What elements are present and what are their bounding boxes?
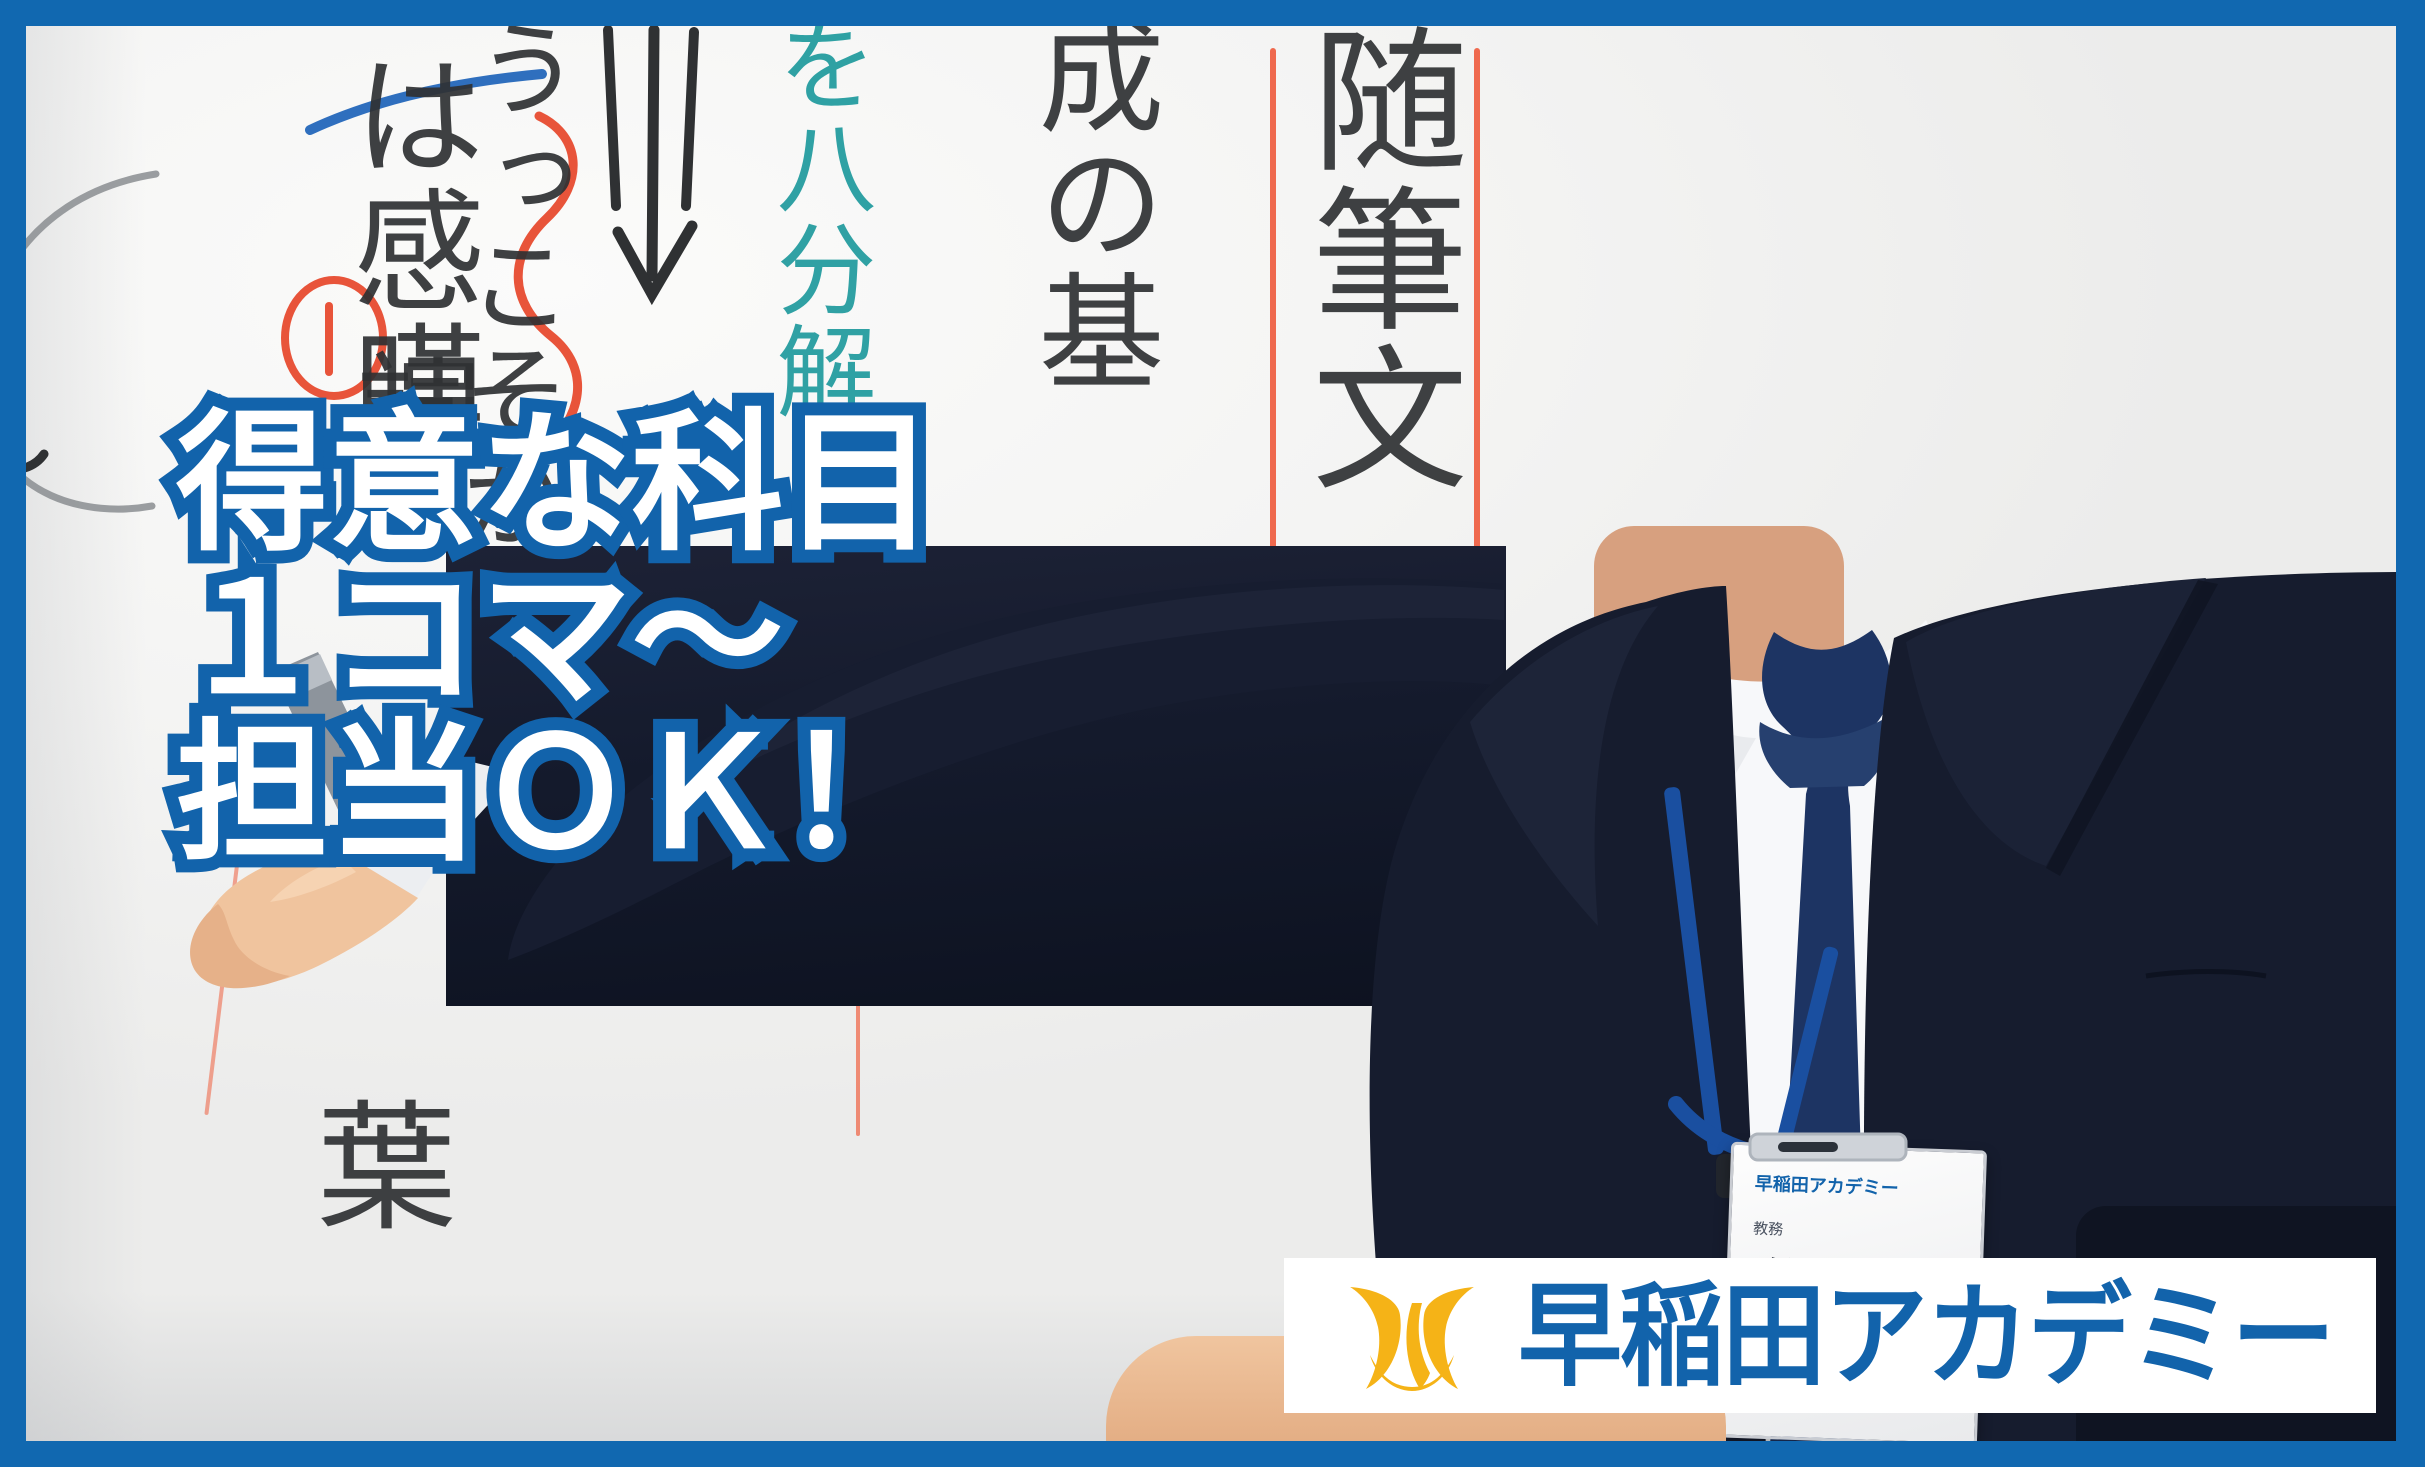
headline-line-1: 得意な科目: [176, 406, 935, 561]
headline-line-3: 担当ＯＫ！: [176, 716, 935, 871]
id-badge-logo: 早稲田アカデミー: [1754, 1169, 1899, 1200]
whiteboard-arrow-down: [566, 26, 736, 356]
whiteboard-note-ha: 葉: [302, 1094, 445, 1237]
whiteboard-red-rule-right: [1474, 48, 1480, 568]
whiteboard-note-zuihitsubun: 随筆文: [1296, 26, 1455, 497]
id-badge-role: 教務: [1753, 1217, 1784, 1239]
banner-stage: は感嘆 詞 うっこそかル を八分解し、 成の基 随筆文 葉: [0, 0, 2425, 1467]
logo-wordmark: 早稲田アカデミー: [1518, 1279, 2333, 1391]
whiteboard-red-rule-left: [1270, 48, 1276, 608]
headline: 得意な科目 １コマ〜 担当ＯＫ！: [176, 406, 935, 871]
logo-plate: 早稲田アカデミー: [1284, 1258, 2376, 1413]
id-badge-slot: [1748, 1124, 1908, 1164]
whiteboard-note-kiso: 成の基: [1026, 26, 1155, 396]
headline-line-2: １コマ〜: [176, 561, 935, 716]
photo-area: は感嘆 詞 うっこそかル を八分解し、 成の基 随筆文 葉: [26, 26, 2396, 1441]
waseda-academy-wheat-mark: [1346, 1281, 1478, 1391]
